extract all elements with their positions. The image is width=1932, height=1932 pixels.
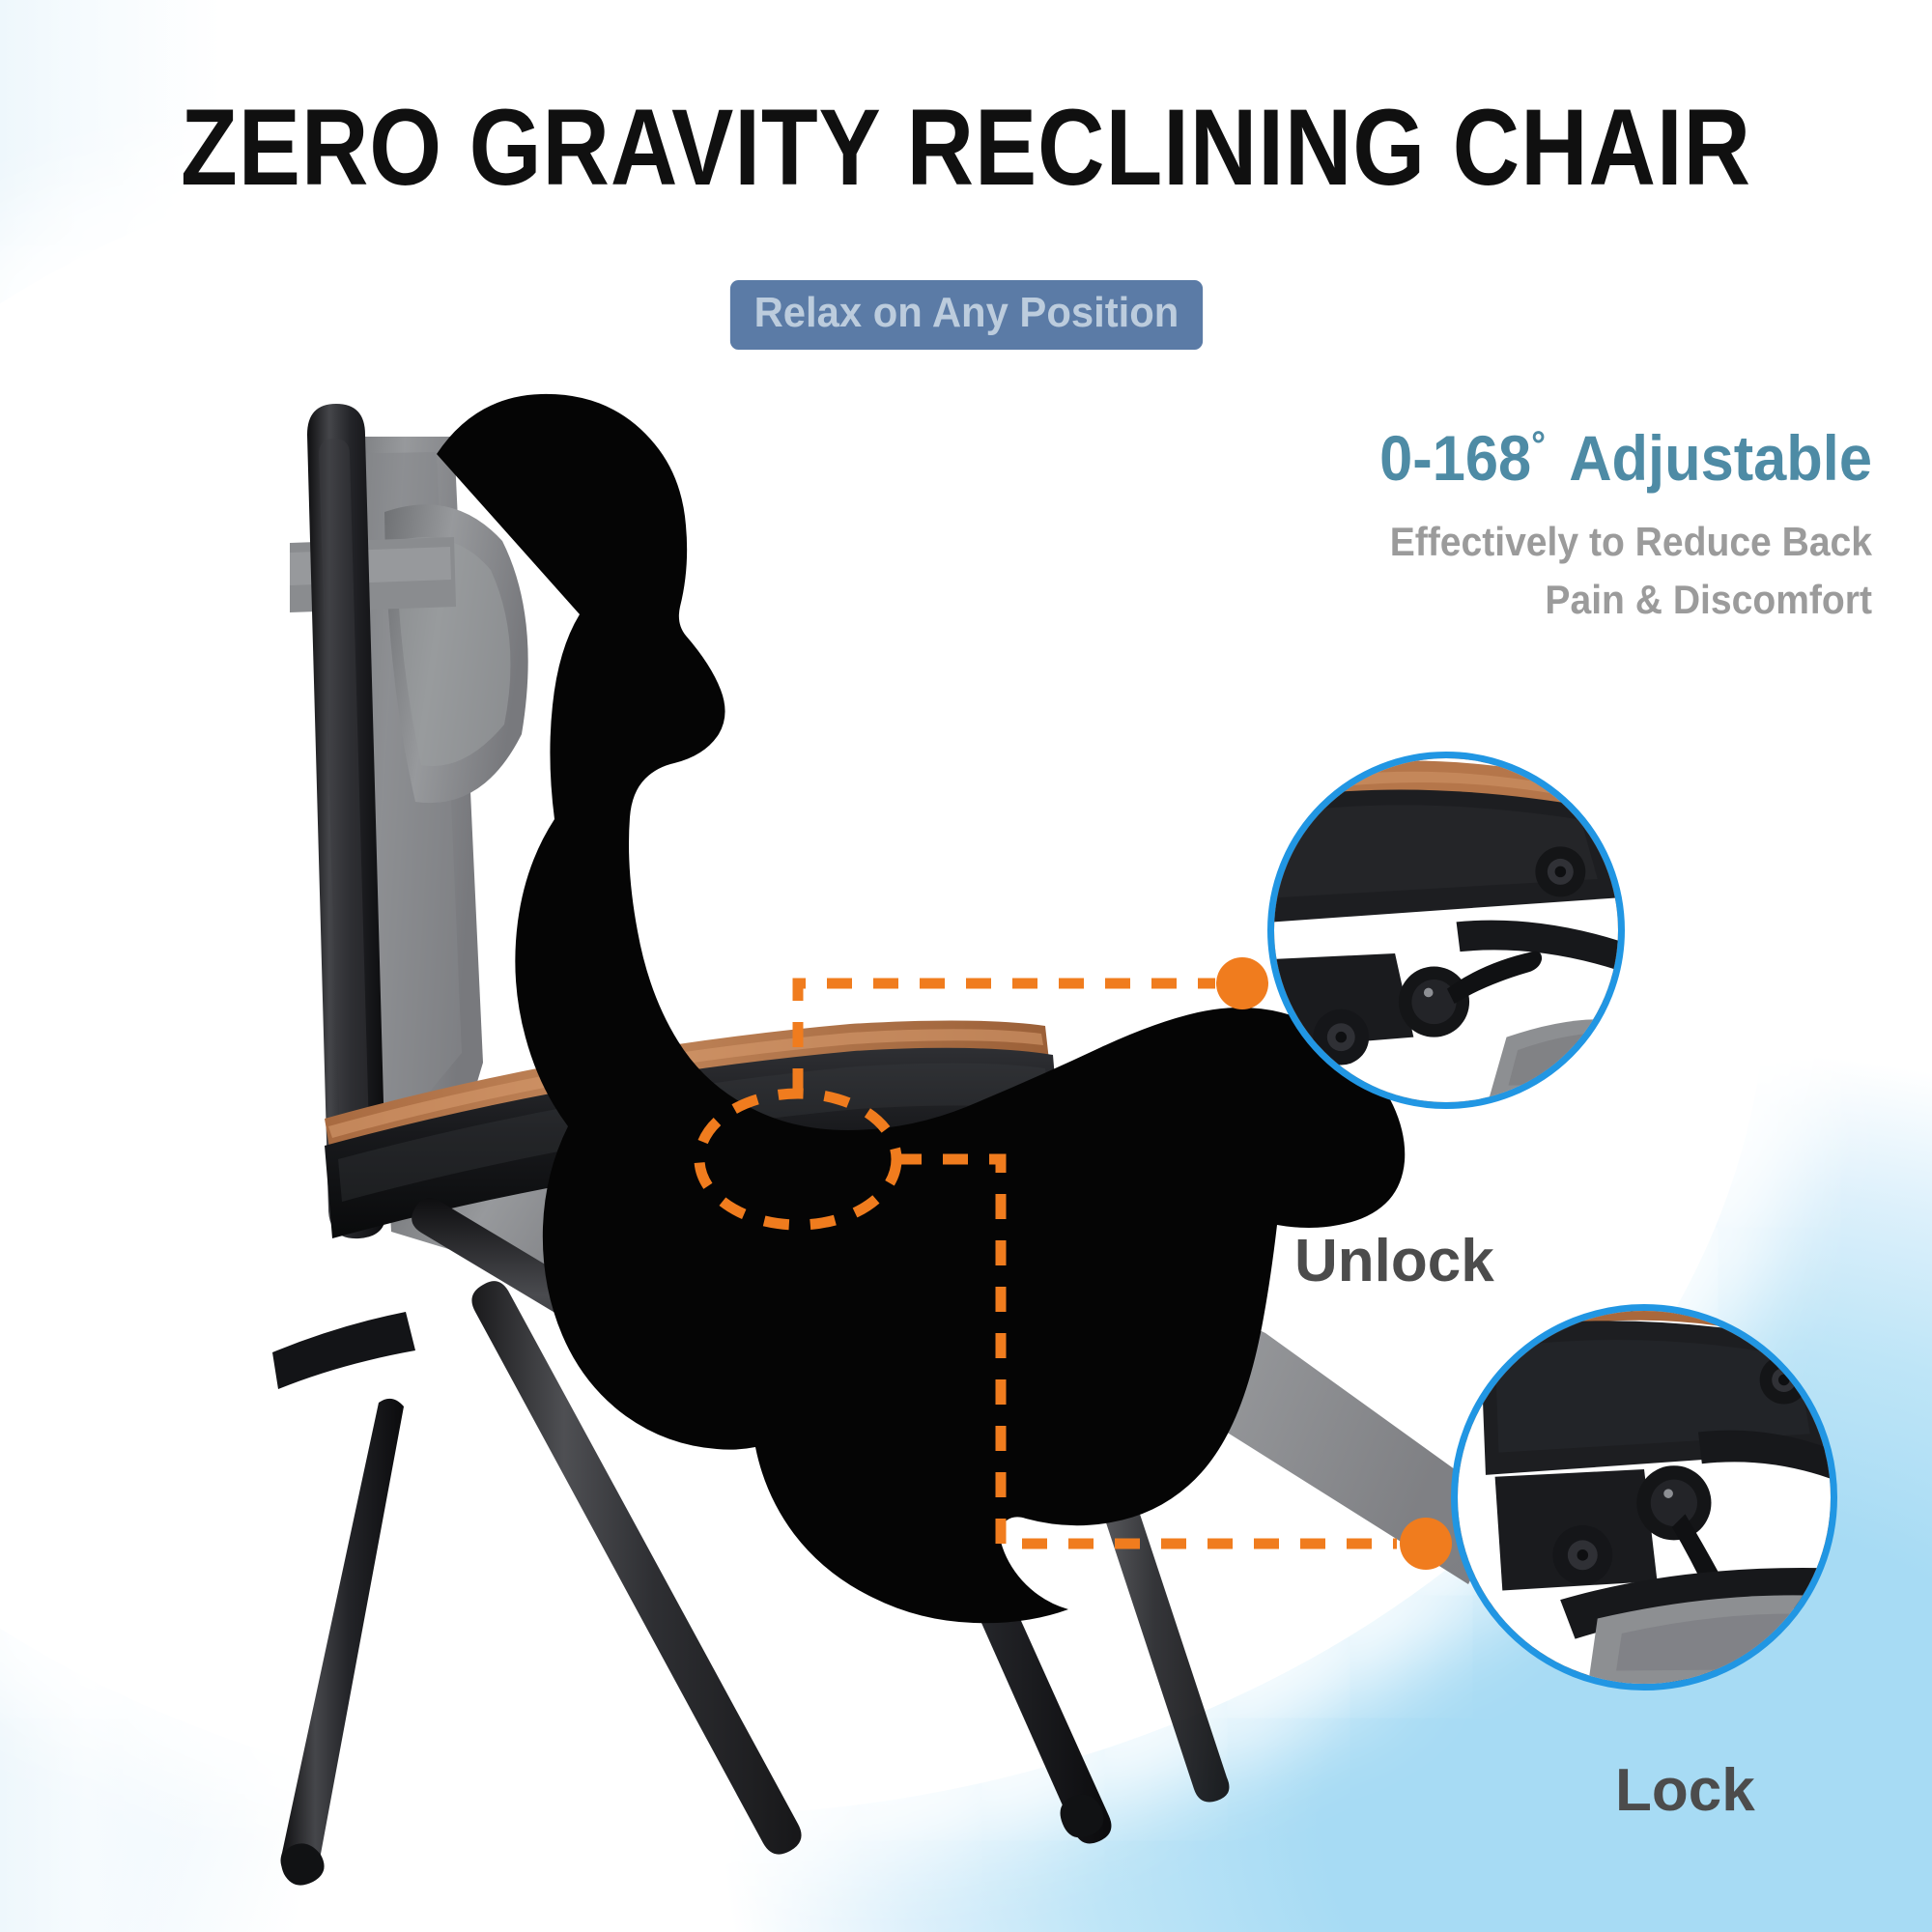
adjustable-label: Adjustable [1569, 422, 1872, 494]
annotation-dot-unlock [1216, 957, 1268, 1009]
adjustable-angle-heading: 0-168°Adjustable [1369, 425, 1872, 492]
feature-description-line-1: Effectively to Reduce Back [1369, 513, 1872, 571]
callout-label-lock-text: Lock [1615, 1757, 1755, 1824]
feature-description-line-2: Pain & Discomfort [1369, 571, 1872, 629]
feature-description: Effectively to Reduce Back Pain & Discom… [1369, 513, 1872, 628]
annotation-dot-lock [1400, 1518, 1452, 1570]
feature-info-block: 0-168°Adjustable Effectively to Reduce B… [1331, 425, 1872, 629]
annotation-line-lock [896, 1159, 1397, 1544]
annotation-lever-highlight [699, 1094, 896, 1225]
callout-unlock-image [1274, 758, 1618, 1102]
callout-circle-unlock [1267, 752, 1625, 1109]
annotation-line-unlock [798, 983, 1215, 1094]
callout-circle-lock [1451, 1304, 1837, 1690]
callout-label-lock: Lock [1615, 1756, 1755, 1825]
callout-lock-image [1458, 1311, 1831, 1684]
angle-value: 0-168 [1379, 422, 1531, 494]
product-infographic-poster: Unlock [0, 0, 1932, 1932]
callout-label-unlock: Unlock [1294, 1227, 1494, 1295]
subtitle-container: Relax on Any Position [0, 280, 1932, 350]
callout-label-unlock-text: Unlock [1294, 1228, 1494, 1294]
degree-symbol: ° [1531, 424, 1546, 467]
subtitle-badge: Relax on Any Position [729, 280, 1202, 350]
page-title: ZERO GRAVITY RECLINING CHAIR [135, 93, 1797, 203]
